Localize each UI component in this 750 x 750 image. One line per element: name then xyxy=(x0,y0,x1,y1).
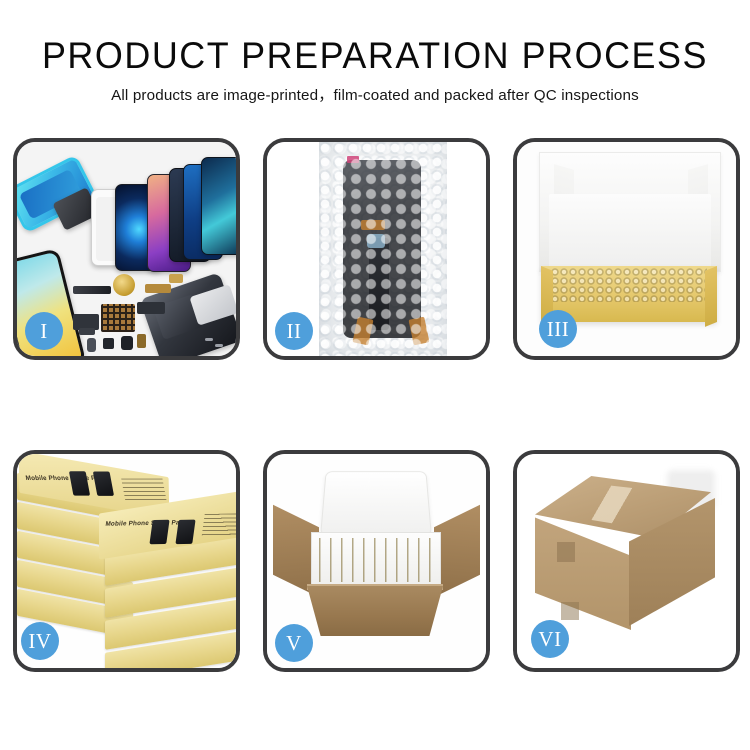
page-subtitle: All products are image-printed，film-coat… xyxy=(0,86,750,106)
box-product-thumbnail xyxy=(93,471,114,495)
screw-part xyxy=(215,344,223,347)
box-spec-lines xyxy=(202,513,236,536)
step-panel-3: III xyxy=(513,138,740,360)
carton-tab xyxy=(557,542,575,562)
step-panel-1: I xyxy=(13,138,240,360)
carton-front-face xyxy=(535,514,631,630)
yellow-boxes-inside xyxy=(319,538,431,582)
box-product-thumbnail xyxy=(149,520,169,545)
step-badge-3: III xyxy=(539,310,577,348)
carton-tab xyxy=(561,602,579,620)
step-panel-2: II xyxy=(263,138,490,360)
step-panel-6: VI xyxy=(513,450,740,672)
step-panel-5: V xyxy=(263,450,490,672)
protective-tape xyxy=(408,317,429,346)
foam-sheet xyxy=(549,194,711,268)
flex-cable-part xyxy=(73,286,111,294)
box-lip-right xyxy=(705,266,717,327)
page-title: PRODUCT PREPARATION PROCESS xyxy=(11,34,739,78)
lcd-connector xyxy=(367,234,385,248)
teal-swirl-phone xyxy=(201,157,236,255)
vibrator-motor-part xyxy=(113,274,135,296)
step-panel-4: Mobile Phone Spare Parts Mobile Phone Sp… xyxy=(13,450,240,672)
step-badge-2: II xyxy=(275,312,313,350)
battery-connector-part xyxy=(121,336,133,350)
button-flex-part xyxy=(169,274,183,283)
box-product-thumbnail xyxy=(175,520,195,545)
screw-part xyxy=(205,338,213,341)
grey-bubble-padding xyxy=(551,268,707,302)
charging-port-part xyxy=(137,334,146,348)
qc-label-sticker xyxy=(347,156,359,163)
connector-board-part xyxy=(101,304,135,332)
protective-tape xyxy=(361,220,385,230)
step-badge-1: I xyxy=(25,312,63,350)
step-badge-4: IV xyxy=(21,622,59,660)
carton-body xyxy=(307,586,443,636)
product-preparation-infographic: PRODUCT PREPARATION PROCESS All products… xyxy=(0,0,750,750)
lcd-flex-cable xyxy=(369,238,389,330)
ribbon-cable-part xyxy=(137,302,165,314)
antenna-part xyxy=(79,328,95,335)
process-steps-grid: I II xyxy=(13,138,740,672)
speaker-part xyxy=(103,338,114,349)
box-spec-lines xyxy=(121,479,166,501)
step-badge-6: VI xyxy=(531,620,569,658)
step-badge-5: V xyxy=(275,624,313,662)
sim-tray-part xyxy=(87,338,96,352)
bubble-wrap-bag xyxy=(319,142,447,356)
foam-lid xyxy=(320,471,432,536)
header: PRODUCT PREPARATION PROCESS All products… xyxy=(0,34,750,106)
box-label-text: Mobile Phone Spare Parts xyxy=(105,519,189,528)
gold-flex-part xyxy=(145,284,171,293)
